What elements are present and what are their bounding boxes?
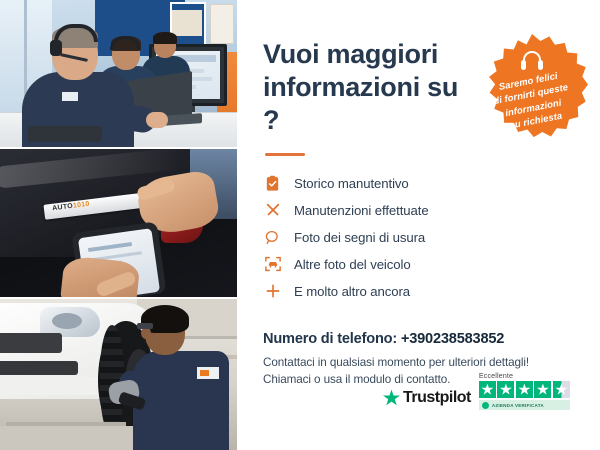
headlight-lens	[52, 313, 82, 329]
call-center-agents-photo	[0, 0, 237, 147]
mechanic-wheel-photo	[0, 299, 237, 450]
title-underline	[265, 153, 305, 156]
badge-text: Saremo felici di fornirti queste informa…	[472, 64, 592, 138]
feature-label: Manutenzioni effettuate	[294, 203, 429, 218]
desk-tablet	[28, 126, 102, 142]
safety-glasses	[137, 323, 153, 329]
lift-platform	[0, 426, 150, 450]
feature-label: Foto dei segni di usura	[294, 230, 425, 245]
star-filled	[516, 381, 533, 398]
mechanic-uniform-badge	[197, 367, 219, 379]
photo-column: AUTO1010	[0, 0, 237, 450]
agent-front-hand	[146, 112, 168, 128]
verified-check-icon	[482, 402, 489, 409]
phone-line: Numero di telefono: +390238583852	[263, 331, 584, 347]
content-panel: Vuoi maggiori informazioni su ? Storico …	[237, 0, 600, 450]
star-filled	[479, 381, 496, 398]
promo-page: AUTO1010	[0, 0, 600, 450]
agent-front-badge	[62, 92, 78, 101]
feature-label: Altre foto del veicolo	[294, 257, 411, 272]
vehicle-scan-icon	[263, 255, 282, 274]
trustpilot-widget[interactable]: Trustpilot Eccellente AZIENDA VERIFICATA	[383, 371, 570, 411]
star-filled	[534, 381, 551, 398]
verified-label: AZIENDA VERIFICATA	[492, 403, 544, 408]
trustpilot-wordmark: Trustpilot	[403, 389, 471, 407]
car-lower-grille	[0, 361, 78, 375]
wall-sign-inner	[172, 10, 202, 36]
phone-subtext-line-1: Contattaci in qualsiasi momento per ulte…	[263, 356, 529, 369]
agent-back-hair	[153, 32, 177, 44]
star-filled	[497, 381, 514, 398]
clipboard-check-icon	[263, 174, 282, 193]
phone-label: Numero di telefono:	[263, 331, 397, 347]
plus-icon	[263, 282, 282, 301]
tools-cross-icon	[263, 201, 282, 220]
verified-badge: AZIENDA VERIFICATA	[479, 400, 570, 410]
trustpilot-logo[interactable]: Trustpilot	[383, 389, 471, 410]
feature-item-manutenzioni-effettuate: Manutenzioni effettuate	[263, 197, 584, 224]
trustpilot-star-icon	[383, 390, 400, 407]
car-grille	[0, 333, 62, 353]
rating-stars	[479, 381, 570, 398]
feature-item-foto-segni-usura: Foto dei segni di usura	[263, 224, 584, 251]
phone-number[interactable]: +390238583852	[401, 331, 504, 347]
agent-front-headset-band	[54, 24, 98, 42]
feature-item-altre-foto-veicolo: Altre foto del veicolo	[263, 251, 584, 278]
feature-item-molto-altro: E molto altro ancora	[263, 278, 584, 305]
trustpilot-rating: Eccellente AZIENDA VERIFICATA	[479, 371, 570, 411]
headset-icon	[521, 51, 543, 71]
callout-badge: Saremo felici di fornirti queste informa…	[476, 34, 588, 146]
feature-label: E molto altro ancora	[294, 284, 410, 299]
page-title: Vuoi maggiori informazioni su ?	[263, 38, 478, 137]
car-bumper	[0, 377, 104, 395]
rating-label: Eccellente	[479, 371, 513, 380]
feature-list: Storico manutentivo Manutenzioni effettu…	[263, 170, 584, 305]
star-half	[553, 381, 570, 398]
mechanic-body	[133, 351, 229, 450]
feature-item-storico-manutentivo: Storico manutentivo	[263, 170, 584, 197]
vehicle-inspection-photo: AUTO1010	[0, 149, 237, 297]
magnifier-icon	[263, 228, 282, 247]
feature-label: Storico manutentivo	[294, 176, 409, 191]
wall-poster	[210, 4, 234, 44]
